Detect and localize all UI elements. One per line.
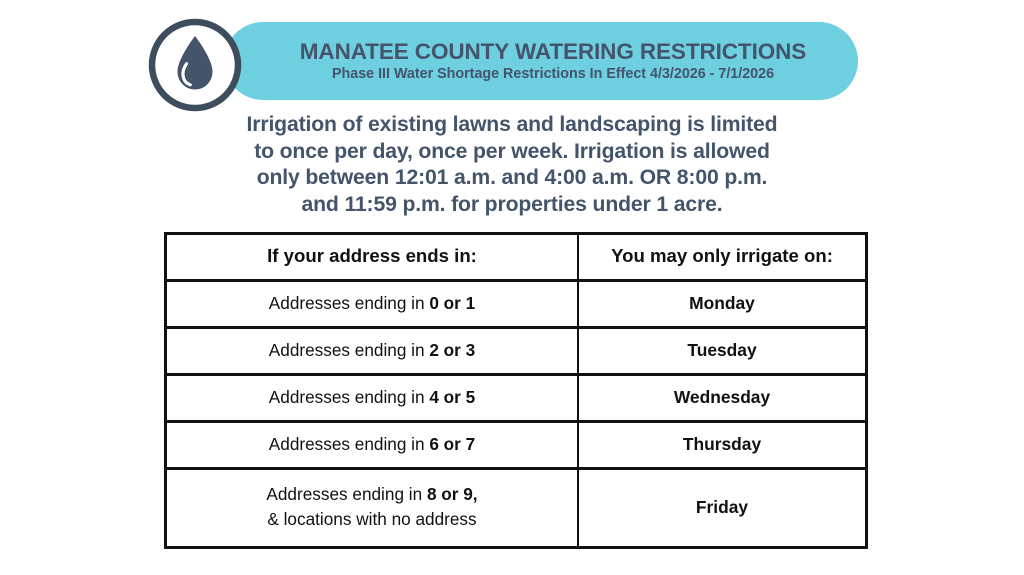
intro-paragraph: Irrigation of existing lawns and landsca…	[0, 112, 1024, 218]
cell-address-rule: Addresses ending in 4 or 5	[167, 374, 578, 421]
address-digits: 8 or 9,	[427, 484, 478, 504]
address-extra: & locations with no address	[167, 507, 577, 532]
table-row: Addresses ending in 2 or 3 Tuesday	[167, 327, 865, 374]
cell-address-rule: Addresses ending in 8 or 9, & locations …	[167, 468, 578, 546]
intro-line-1: Irrigation of existing lawns and landsca…	[0, 112, 1024, 139]
address-digits: 6 or 7	[429, 434, 475, 454]
cell-address-rule: Addresses ending in 6 or 7	[167, 421, 578, 468]
cell-irrigation-day: Thursday	[578, 421, 865, 468]
banner-text-group: MANATEE COUNTY WATERING RESTRICTIONS Pha…	[248, 22, 858, 100]
address-prefix: Addresses ending in	[269, 340, 430, 360]
cell-irrigation-day: Tuesday	[578, 327, 865, 374]
table-header-row: If your address ends in: You may only ir…	[167, 235, 865, 280]
intro-line-3: only between 12:01 a.m. and 4:00 a.m. OR…	[0, 165, 1024, 192]
table-row: Addresses ending in 4 or 5 Wednesday	[167, 374, 865, 421]
address-digits: 4 or 5	[429, 387, 475, 407]
cell-address-rule: Addresses ending in 0 or 1	[167, 280, 578, 327]
address-prefix: Addresses ending in	[266, 484, 427, 504]
cell-address-rule: Addresses ending in 2 or 3	[167, 327, 578, 374]
table-row: Addresses ending in 0 or 1 Monday	[167, 280, 865, 327]
intro-line-4: and 11:59 p.m. for properties under 1 ac…	[0, 192, 1024, 219]
address-prefix: Addresses ending in	[269, 293, 430, 313]
water-droplet-icon	[148, 18, 242, 112]
cell-irrigation-day: Monday	[578, 280, 865, 327]
watering-restrictions-infographic: MANATEE COUNTY WATERING RESTRICTIONS Pha…	[0, 0, 1024, 575]
table-row: Addresses ending in 6 or 7 Thursday	[167, 421, 865, 468]
cell-irrigation-day: Friday	[578, 468, 865, 546]
column-header-address: If your address ends in:	[167, 235, 578, 280]
address-prefix: Addresses ending in	[269, 387, 430, 407]
page-title: MANATEE COUNTY WATERING RESTRICTIONS	[300, 40, 806, 65]
column-header-day: You may only irrigate on:	[578, 235, 865, 280]
banner-subtitle: Phase III Water Shortage Restrictions In…	[332, 67, 774, 83]
address-digits: 2 or 3	[429, 340, 475, 360]
intro-line-2: to once per day, once per week. Irrigati…	[0, 139, 1024, 166]
table-row: Addresses ending in 8 or 9, & locations …	[167, 468, 865, 546]
irrigation-schedule-table: If your address ends in: You may only ir…	[164, 232, 868, 549]
address-digits: 0 or 1	[429, 293, 475, 313]
cell-irrigation-day: Wednesday	[578, 374, 865, 421]
address-prefix: Addresses ending in	[269, 434, 430, 454]
header-banner: MANATEE COUNTY WATERING RESTRICTIONS Pha…	[148, 18, 860, 104]
